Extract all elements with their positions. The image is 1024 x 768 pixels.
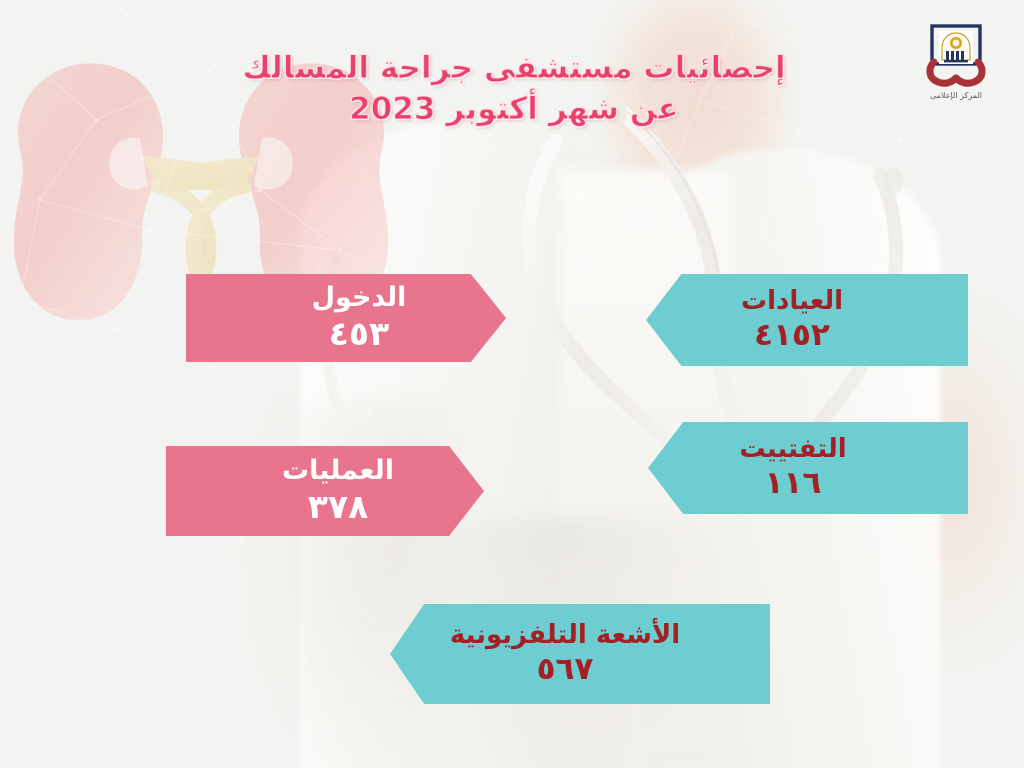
stat-value-admissions: ٤٥٣: [329, 316, 389, 353]
logo-caption: المركز الإعلامى: [912, 91, 1000, 100]
stat-banner-clinics[interactable]: العيادات ٤١٥٢: [646, 274, 968, 366]
stat-value-operations: ٣٧٨: [308, 489, 368, 526]
infographic-poster: المركز الإعلامى إحصائيات مستشفى جراحة ال…: [0, 0, 1024, 768]
stat-banner-lithotripsy[interactable]: التفتييت ١١٦: [648, 422, 968, 514]
assiut-university-media-center-logo: المركز الإعلامى: [912, 22, 1000, 114]
stat-value-clinics: ٤١٥٢: [754, 318, 830, 353]
title-line-2: عن شهر أكتوبر 2023: [154, 89, 874, 130]
stat-label-admissions: الدخول: [312, 283, 407, 313]
stat-label-lithotripsy: التفتييت: [739, 435, 846, 464]
university-emblem-icon: [920, 22, 992, 90]
stat-banner-admissions[interactable]: الدخول ٤٥٣: [186, 274, 506, 362]
stat-label-ultrasound: الأشعة التلفزيونية: [450, 621, 680, 650]
stat-label-operations: العمليات: [282, 456, 394, 486]
stat-value-lithotripsy: ١١٦: [765, 466, 822, 501]
page-title: إحصائيات مستشفى جراحة المسالك عن شهر أكت…: [154, 48, 874, 130]
stat-label-clinics: العيادات: [741, 287, 843, 316]
stat-banner-operations[interactable]: العمليات ٣٧٨: [166, 446, 484, 536]
stat-banner-ultrasound[interactable]: الأشعة التلفزيونية ٥٦٧: [390, 604, 770, 704]
title-line-1: إحصائيات مستشفى جراحة المسالك: [154, 48, 874, 89]
stat-value-ultrasound: ٥٦٧: [537, 652, 594, 687]
